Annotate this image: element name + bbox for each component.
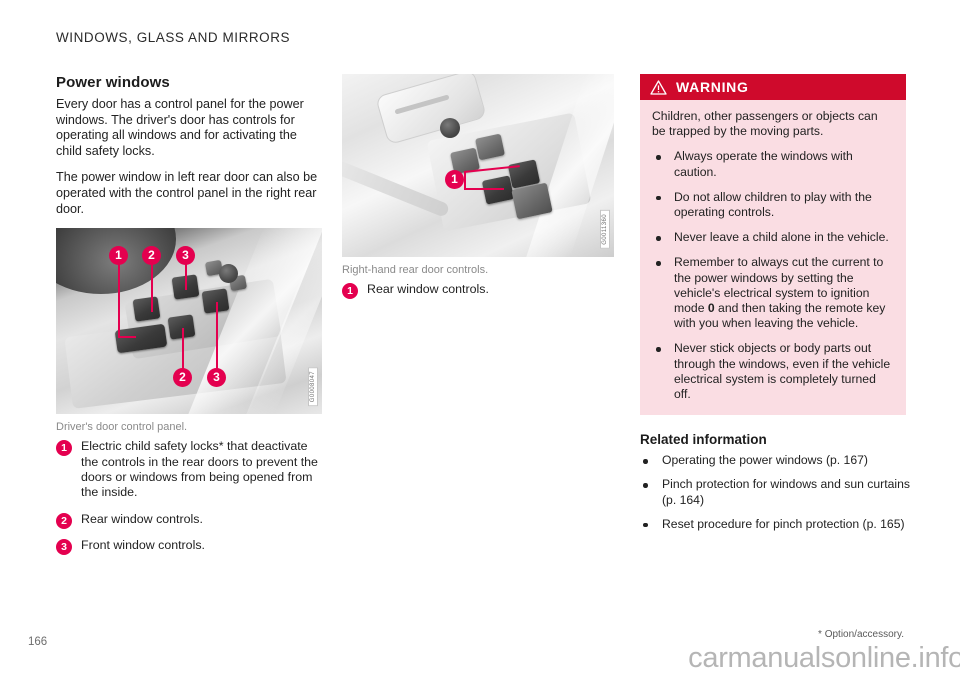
callout-text-1: Electric child safety locks* that deacti… — [81, 439, 318, 499]
warning-bullet-1: Always operate the windows with caution. — [652, 149, 894, 179]
related-information-list: Operating the power windows (p. 167) Pin… — [640, 453, 910, 532]
related-link-2[interactable]: Pinch protection for windows and sun cur… — [640, 477, 910, 507]
middle-column: 1 G0011360 Right-hand rear door controls… — [342, 74, 614, 297]
driver-door-callout-list: 1 Electric child safety locks* that deac… — [56, 439, 322, 553]
warning-bullet-1-text: Always operate the windows with caution. — [674, 149, 853, 178]
callout-text-1: Rear window controls. — [367, 282, 489, 296]
warning-triangle-icon — [650, 80, 667, 95]
warning-bullet-list: Always operate the windows with caution.… — [652, 149, 894, 402]
callout-badge-1: 1 — [56, 440, 72, 456]
leader-line-3-top — [185, 264, 187, 290]
page-number: 166 — [28, 636, 47, 648]
leader-line-2-top — [151, 264, 153, 312]
related-link-3-text: Reset procedure for pinch protection (p.… — [662, 517, 905, 531]
photo-marker-1: 1 — [445, 170, 464, 189]
callout-badge-2: 2 — [56, 513, 72, 529]
related-link-3[interactable]: Reset procedure for pinch protection (p.… — [640, 517, 910, 532]
callout-item-2: 2 Rear window controls. — [56, 512, 322, 527]
callout-item-1: 1 Rear window controls. — [342, 282, 614, 297]
warning-body: Children, other passengers or objects ca… — [640, 100, 906, 415]
leader-line-1-foot — [118, 336, 136, 338]
warning-header: WARNING — [640, 74, 906, 100]
running-header: WINDOWS, GLASS AND MIRRORS — [56, 30, 290, 45]
related-link-1[interactable]: Operating the power windows (p. 167) — [640, 453, 910, 468]
intro-paragraph-1: Every door has a control panel for the p… — [56, 97, 322, 159]
rear-door-callout-list: 1 Rear window controls. — [342, 282, 614, 297]
warning-bullet-3-text: Never leave a child alone in the vehicle… — [674, 230, 889, 244]
leader-line-3-bottom — [216, 302, 218, 370]
related-link-1-text: Operating the power windows (p. 167) — [662, 453, 868, 467]
page-title: Power windows — [56, 74, 322, 91]
leader-line-1 — [118, 264, 120, 338]
callout-item-3: 3 Front window controls. — [56, 538, 322, 553]
related-information-section: Related information Operating the power … — [640, 432, 910, 532]
driver-door-panel-photo: 1 2 3 2 3 G0008047 — [56, 228, 322, 414]
warning-bullet-2-text: Do not allow children to play with the o… — [674, 190, 872, 219]
warning-bullet-5: Never stick objects or body parts out th… — [652, 341, 894, 402]
warning-bullet-2: Do not allow children to play with the o… — [652, 190, 894, 220]
ignition-mode-value: 0 — [708, 301, 715, 315]
leader-line-branch-stem — [464, 171, 466, 189]
warning-bullet-4: Remember to always cut the current to th… — [652, 255, 894, 331]
door-lock-knob — [440, 118, 460, 138]
figure-caption-rear-door: Right-hand rear door controls. — [342, 264, 614, 276]
figure-caption-driver-door: Driver's door control panel. — [56, 421, 322, 433]
warning-intro-text: Children, other passengers or objects ca… — [652, 109, 894, 139]
callout-badge-1: 1 — [342, 283, 358, 299]
image-reference-code: G0011360 — [600, 210, 610, 249]
warning-title: WARNING — [676, 79, 749, 95]
watermark: carmanualsonline.info — [688, 642, 960, 675]
callout-item-1: 1 Electric child safety locks* that deac… — [56, 439, 322, 501]
intro-paragraph-2: The power window in left rear door can a… — [56, 170, 322, 217]
leader-line-branch-lower — [464, 188, 504, 190]
related-link-2-text: Pinch protection for windows and sun cur… — [662, 477, 910, 506]
manual-page: WINDOWS, GLASS AND MIRRORS Power windows… — [0, 0, 960, 677]
rear-door-panel-photo: 1 G0011360 — [342, 74, 614, 257]
warning-bullet-3: Never leave a child alone in the vehicle… — [652, 230, 894, 245]
related-information-title: Related information — [640, 432, 910, 447]
rear-window-button-left — [133, 297, 161, 322]
left-column: Power windows Every door has a control p… — [56, 74, 322, 554]
callout-text-2: Rear window controls. — [81, 512, 203, 526]
callout-badge-3: 3 — [56, 539, 72, 555]
warning-bullet-5-text: Never stick objects or body parts out th… — [674, 341, 890, 401]
leader-line-2-bottom — [182, 328, 184, 370]
warning-box: WARNING Children, other passengers or ob… — [640, 74, 906, 415]
right-column: WARNING Children, other passengers or ob… — [640, 74, 906, 541]
callout-text-3: Front window controls. — [81, 538, 205, 552]
option-accessory-note: * Option/accessory. — [818, 629, 904, 640]
image-reference-code: G0008047 — [308, 367, 318, 406]
